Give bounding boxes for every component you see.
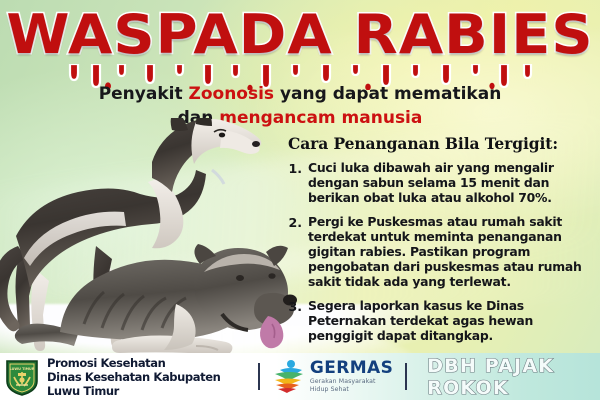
germas-figure-icon (272, 359, 306, 395)
germas-text-block: GERMAS Gerakan Masyarakat Hidup Sehat (310, 360, 393, 393)
dog-illustration-group (0, 118, 300, 358)
germas-tagline-line-1: Gerakan Masyarakat (310, 378, 393, 385)
subtitle-text-pre: Penyakit (99, 84, 189, 104)
brindle-dog-illustration (15, 244, 297, 355)
step-text: Cuci luka dibawah air yang mengalir deng… (308, 160, 594, 205)
funding-label: DBH PAJAK ROKOK (427, 355, 600, 399)
list-item: 2. Pergi ke Puskesmas atau rumah sakit t… (288, 214, 594, 289)
step-number: 2. (288, 214, 302, 289)
svg-text:LUWU TIMUR: LUWU TIMUR (10, 367, 35, 371)
dogs-artwork (0, 118, 300, 358)
step-number: 1. (288, 160, 302, 205)
step-number: 3. (288, 298, 302, 343)
germas-tagline: Gerakan Masyarakat Hidup Sehat (310, 378, 393, 393)
germas-tagline-line-2: Hidup Sehat (310, 386, 393, 393)
germas-wordmark: GERMAS (310, 360, 393, 377)
subtitle-highlight-zoonosis: Zoonosis (189, 84, 275, 104)
step-text: Segera laporkan kasus ke Dinas Peternaka… (308, 298, 594, 343)
org-line-2: Dinas Kesehatan Kabupaten Luwu Timur (47, 370, 246, 398)
list-item: 3. Segera laporkan kasus ke Dinas Petern… (288, 298, 594, 343)
footer-divider-2 (405, 363, 407, 390)
step-text: Pergi ke Puskesmas atau rumah sakit terd… (308, 214, 594, 289)
steps-heading: Cara Penanganan Bila Tergigit: (288, 134, 594, 153)
health-office-text: Promosi Kesehatan Dinas Kesehatan Kabupa… (47, 356, 246, 398)
footer-divider-1 (258, 363, 260, 390)
treatment-steps-panel: Cara Penanganan Bila Tergigit: 1. Cuci l… (288, 134, 594, 352)
page-title: WASPADA RABIES (6, 6, 593, 64)
luwu-timur-regency-crest-icon: LUWU TIMUR (5, 358, 39, 396)
subtitle-line-1: Penyakit Zoonosis yang dapat mematikan (0, 84, 600, 104)
org-line-1: Promosi Kesehatan (47, 356, 246, 370)
title-block: WASPADA RABIES (0, 6, 600, 64)
subtitle-text-post: yang dapat mematikan (274, 84, 501, 104)
list-item: 1. Cuci luka dibawah air yang mengalir d… (288, 160, 594, 205)
rabies-awareness-poster: WASPADA RABIES (0, 0, 600, 400)
footer-bar: LUWU TIMUR Promosi Kesehatan Dinas Keseh… (0, 353, 600, 400)
